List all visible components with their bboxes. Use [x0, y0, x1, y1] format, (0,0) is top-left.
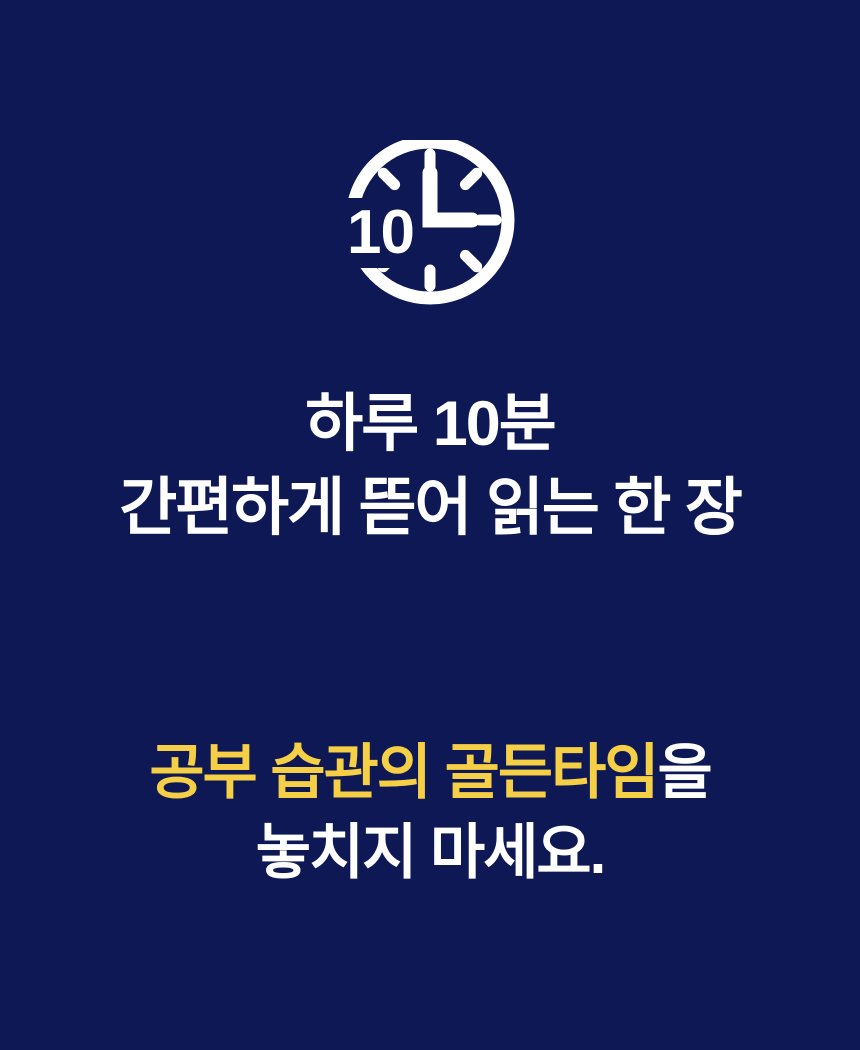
headline-block: 하루 10분 간편하게 뜯어 읽는 한 장 [0, 382, 860, 550]
highlight-accent-text: 공부 습관의 골든타임 [149, 739, 657, 806]
highlight-line-1: 공부 습관의 골든타임을 [0, 733, 860, 813]
clock-icon-container: 10 [0, 140, 860, 310]
promo-poster: 10 하루 10분 간편하게 뜯어 읽는 한 장 공부 습관의 골든타임을 놓치… [0, 0, 860, 1050]
headline-line-2: 간편하게 뜯어 읽는 한 장 [0, 466, 860, 550]
highlight-particle-text: 을 [657, 739, 710, 806]
highlight-line-2: 놓치지 마세요. [0, 813, 860, 893]
clock-icon [335, 140, 525, 310]
highlight-block: 공부 습관의 골든타임을 놓치지 마세요. [0, 733, 860, 893]
headline-line-1: 하루 10분 [0, 382, 860, 466]
